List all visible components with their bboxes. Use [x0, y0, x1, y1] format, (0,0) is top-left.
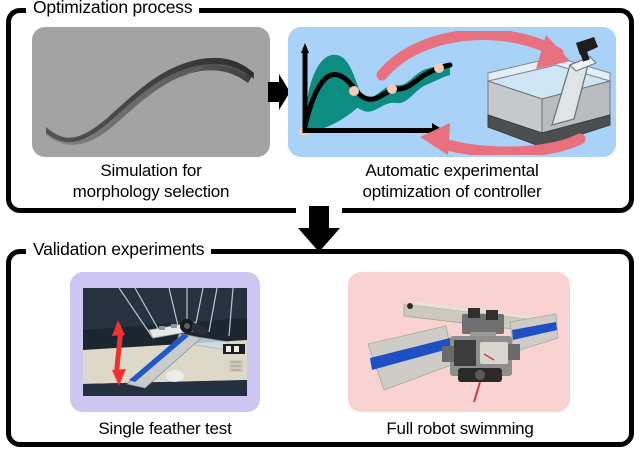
single-feather-test-card	[70, 272, 260, 412]
controller-optimization-caption: Automatic experimental optimization of c…	[288, 160, 616, 202]
full-robot-swimming-card	[348, 272, 570, 412]
full-robot-swimming-caption: Full robot swimming	[338, 418, 582, 439]
single-feather-test-photo	[83, 288, 247, 396]
single-feather-test-caption: Single feather test	[45, 418, 285, 439]
right-arrow-icon	[268, 73, 290, 111]
controller-optimization-card	[288, 27, 616, 157]
validation-experiments-title: Validation experiments	[26, 241, 211, 259]
deformed-fin-mesh-illustration	[32, 27, 270, 157]
simulation-caption: Simulation for morphology selection	[22, 160, 280, 202]
down-arrow-icon	[296, 206, 342, 252]
full-robot-swimming-photo	[358, 282, 560, 402]
optimization-loop-arrows	[374, 31, 616, 155]
optimization-process-title: Optimization process	[26, 0, 199, 17]
simulation-card	[32, 27, 270, 157]
